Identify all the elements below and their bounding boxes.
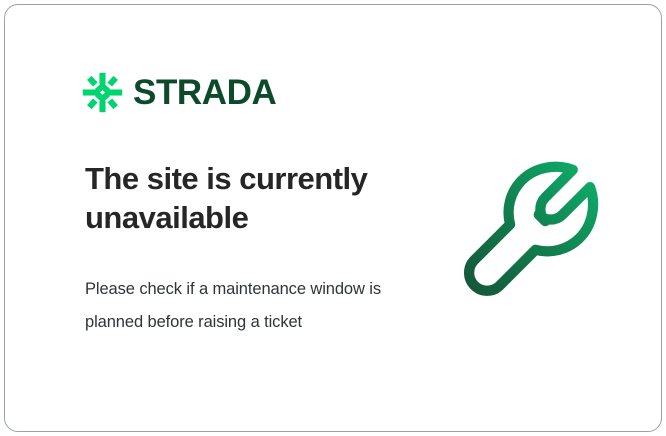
- brand-lockup: STRADA: [81, 71, 276, 114]
- strada-asterisk-icon: [81, 71, 124, 114]
- page-description: Please check if a maintenance window is …: [85, 273, 400, 339]
- page-title: The site is currently unavailable: [85, 160, 425, 238]
- page-root: STRADA The site is currently unavailable…: [0, 0, 666, 436]
- brand-wordmark: STRADA: [133, 75, 276, 110]
- card-content: STRADA The site is currently unavailable…: [5, 5, 661, 431]
- status-card: STRADA The site is currently unavailable…: [4, 4, 662, 432]
- wrench-icon: [460, 153, 620, 313]
